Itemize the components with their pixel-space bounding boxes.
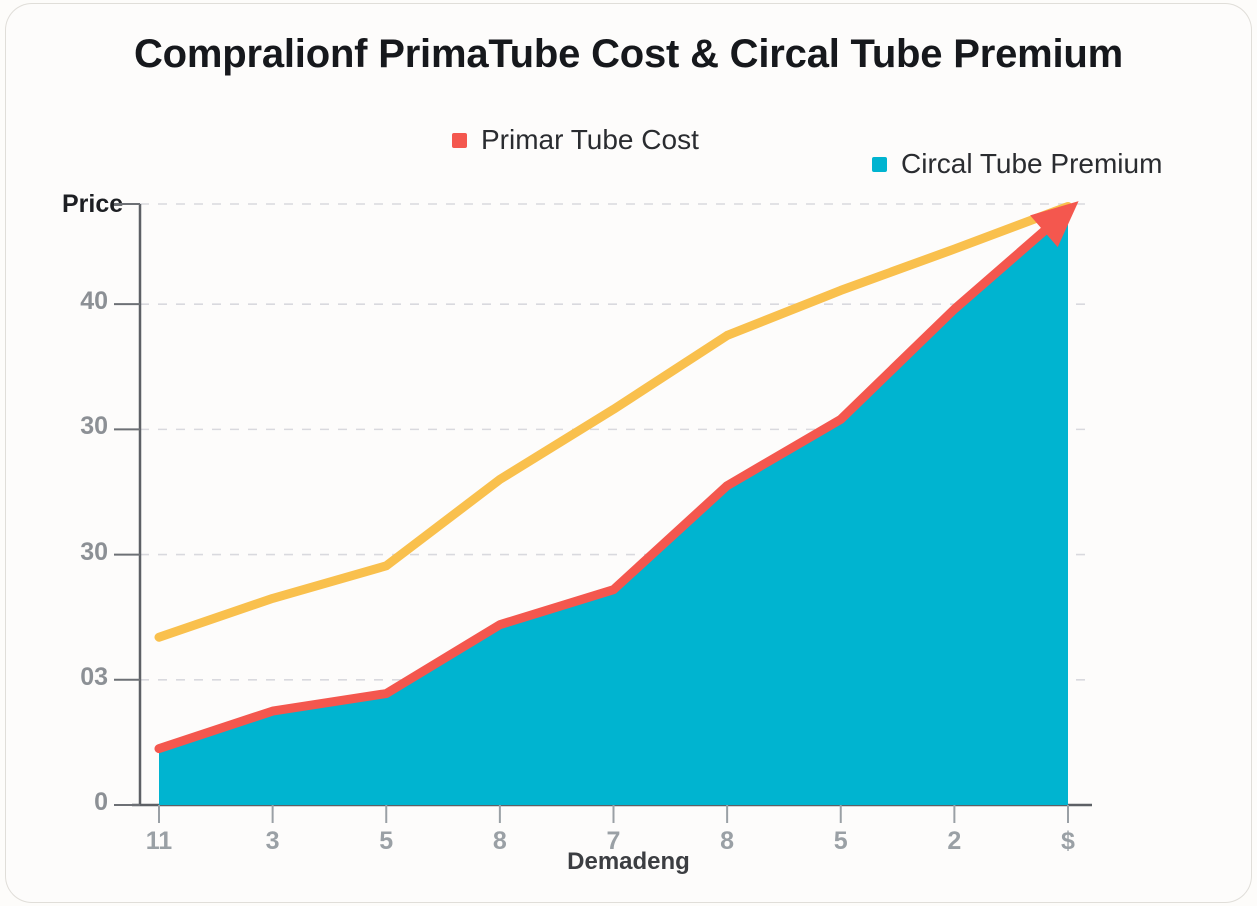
x-tick-label: 8: [470, 827, 530, 856]
x-tick-label: $: [1038, 827, 1098, 856]
x-tick-label: 8: [697, 827, 757, 856]
x-tick-label: 11: [129, 827, 189, 856]
x-tick-label: 5: [811, 827, 871, 856]
x-tick-label: 3: [243, 827, 303, 856]
y-tick-label: 03: [48, 663, 108, 692]
chart-card: Compralionf PrimaTube Cost & Circal Tube…: [0, 0, 1257, 906]
x-tick-label: 7: [584, 827, 644, 856]
y-axis-ticks: [114, 204, 140, 805]
plot-area: [0, 0, 1257, 906]
y-tick-label: 0: [48, 788, 108, 817]
x-axis-ticks: [159, 805, 1068, 823]
series-area-circal-tube-premium: [159, 210, 1068, 805]
y-tick-label: 30: [48, 538, 108, 567]
y-tick-label: 40: [48, 287, 108, 316]
y-tick-label: 30: [48, 412, 108, 441]
x-tick-label: 5: [356, 827, 416, 856]
x-tick-label: 2: [924, 827, 984, 856]
